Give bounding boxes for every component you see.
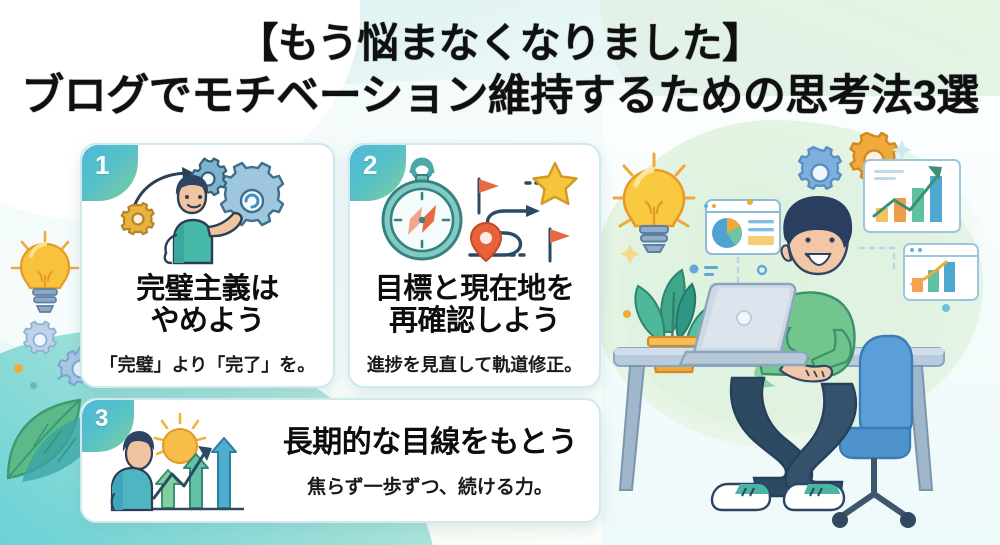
person-with-gears-icon	[112, 157, 312, 265]
card-2-title-line-1: 目標と現在地を	[350, 273, 599, 305]
card-1[interactable]: 1	[80, 143, 335, 388]
bar-chart-card-icon	[904, 244, 978, 300]
card-3[interactable]: 3	[80, 398, 601, 523]
page-title: 【もう悩まなくなりました】 ブログでモチベーション維持するための思考法3選	[0, 18, 1000, 124]
card-1-title-line-2: やめよう	[82, 305, 333, 337]
person-working-at-desk-illustration	[602, 132, 998, 544]
card-1-title: 完璧主義は やめよう	[82, 273, 333, 338]
card-2[interactable]: 2	[348, 143, 601, 388]
compass-roadmap-icon	[374, 157, 579, 269]
card-2-title: 目標と現在地を 再確認しよう	[350, 273, 599, 338]
card-3-subtitle: 焦らず一歩ずつ、続ける力。	[257, 472, 601, 499]
page-title-line-1: 【もう悩まなくなりました】	[0, 18, 1000, 68]
bar-chart-card-icon	[864, 160, 960, 232]
card-2-title-line-2: 再確認しよう	[350, 305, 599, 337]
card-2-subtitle: 進捗を見直して軌道修正。	[350, 351, 599, 377]
poster-canvas: 【もう悩まなくなりました】 ブログでモチベーション維持するための思考法3選	[0, 0, 1000, 545]
card-1-title-line-1: 完璧主義は	[82, 273, 333, 305]
pie-chart-card-icon	[704, 200, 780, 254]
card-3-title-line-1: 長期的な目線をもとう	[257, 426, 601, 460]
lightbulb-icon	[6, 228, 84, 332]
card-1-subtitle: 「完璧」より「完了」を。	[82, 351, 333, 377]
card-3-title: 長期的な目線をもとう	[257, 426, 601, 460]
page-title-line-2: ブログでモチベーション維持するための思考法3選	[0, 68, 1000, 124]
